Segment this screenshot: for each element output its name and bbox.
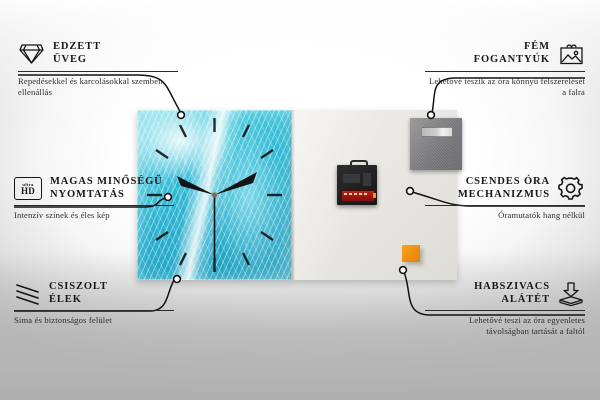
feature-description: Lehetővé teszi az óra egyenletes távolsá… xyxy=(425,315,585,337)
feature-description: Óramutatók hang nélkül xyxy=(425,210,585,221)
feature-rule xyxy=(425,71,585,72)
ultra-hd-icon: ultra HD xyxy=(14,177,42,200)
feature-title: CSENDES ÓRA MECHANIZMUS xyxy=(458,176,550,201)
clock-mechanism-box xyxy=(337,165,377,205)
feature-title: EDZETT ÜVEG xyxy=(53,41,101,66)
product-image xyxy=(137,110,457,280)
battery-label xyxy=(344,193,368,195)
feature-description: Sima és biztonságos felület xyxy=(14,315,174,326)
feature-description: Lehetővé teszik az óra könnyű felszerelé… xyxy=(425,76,585,98)
polished-edges-icon xyxy=(14,283,41,305)
feature-rule xyxy=(18,71,178,72)
picture-hanger-icon xyxy=(558,42,585,65)
metal-hanger-plate xyxy=(410,118,462,170)
feature-header: HABSZIVACS ALÁTÉT xyxy=(425,281,585,306)
feature-rule xyxy=(425,310,585,311)
feature-header: CSISZOLT ÉLEK xyxy=(14,281,174,306)
mechanism-hook xyxy=(350,160,368,168)
foam-pad-icon xyxy=(558,282,585,306)
feature-title: MAGAS MINŐSÉGŰ NYOMTATÁS xyxy=(50,176,163,201)
gear-icon xyxy=(558,176,585,201)
battery xyxy=(341,190,375,202)
feature-header: EDZETT ÜVEG xyxy=(18,41,178,66)
feature-description: Repedésekkel és karcolásokkal szemben el… xyxy=(18,76,178,98)
feature-hd-print[interactable]: ultra HD MAGAS MINŐSÉGŰ NYOMTATÁS Intenz… xyxy=(14,176,174,221)
infographic-canvas: EDZETT ÜVEG Repedésekkel és karcolásokka… xyxy=(0,0,600,400)
feature-header: CSENDES ÓRA MECHANIZMUS xyxy=(425,176,585,201)
mechanism-panel xyxy=(343,174,360,183)
feature-header: FÉM FOGANTYÚK xyxy=(425,41,585,66)
hanger-keyhole-slot xyxy=(421,127,453,137)
mechanism-dial xyxy=(363,173,371,186)
feature-rule xyxy=(14,310,174,311)
feature-foam-pad[interactable]: HABSZIVACS ALÁTÉT Lehetővé teszi az óra … xyxy=(425,281,585,337)
feature-rule xyxy=(425,205,585,206)
feature-title: FÉM FOGANTYÚK xyxy=(474,41,550,66)
feature-header: ultra HD MAGAS MINŐSÉGŰ NYOMTATÁS xyxy=(14,176,174,201)
feature-description: Intenzív színek és éles kép xyxy=(14,210,174,221)
feature-silent-mechanism[interactable]: CSENDES ÓRA MECHANIZMUS Óramutatók hang … xyxy=(425,176,585,221)
feature-polished-edges[interactable]: CSISZOLT ÉLEK Sima és biztonságos felüle… xyxy=(14,281,174,326)
feature-tempered-glass[interactable]: EDZETT ÜVEG Repedésekkel és karcolásokka… xyxy=(18,41,178,98)
foam-spacer-pad xyxy=(402,245,420,262)
feature-metal-hangers[interactable]: FÉM FOGANTYÚK Lehetővé teszik az óra kön… xyxy=(425,41,585,98)
feature-title: HABSZIVACS ALÁTÉT xyxy=(474,281,550,306)
diamond-icon xyxy=(18,42,45,65)
feature-rule xyxy=(14,205,174,206)
feature-title: CSISZOLT ÉLEK xyxy=(49,281,108,306)
